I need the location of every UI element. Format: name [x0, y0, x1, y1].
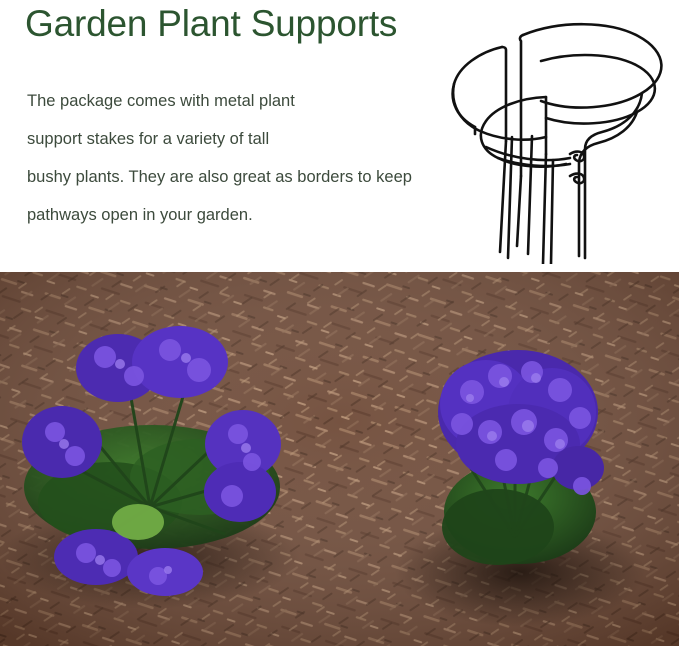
product-infographic: Garden Plant Supports The package comes …	[0, 0, 679, 646]
garden-photo	[0, 272, 679, 646]
page-title: Garden Plant Supports	[25, 2, 397, 46]
info-panel: Garden Plant Supports The package comes …	[0, 0, 679, 272]
right-plant-upright	[438, 350, 604, 565]
plant-support-illustration	[420, 8, 679, 264]
